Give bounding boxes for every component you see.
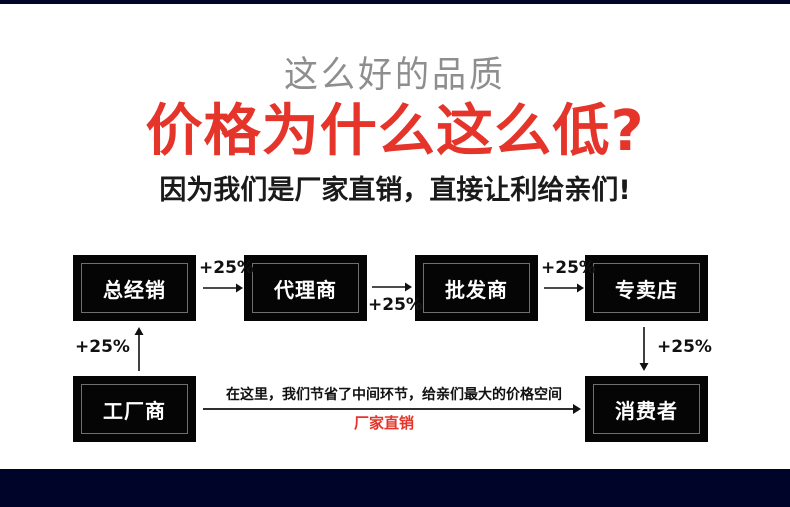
flow-box-factory: 工厂商 — [73, 376, 196, 442]
flow-box-agent: 代理商 — [244, 255, 367, 321]
direct-sale-description: 在这里，我们节省了中间环节，给亲们最大的价格空间 — [226, 384, 562, 404]
flow-box-label: 消费者 — [615, 395, 678, 424]
arrow-down-icon — [637, 327, 651, 371]
top-accent-band — [0, 0, 790, 4]
flow-box-inner: 消费者 — [593, 384, 700, 434]
markup-label-factory-distributor: +25% — [75, 337, 130, 357]
arrow-right-icon-2 — [372, 280, 412, 294]
flow-box-label: 专卖店 — [615, 274, 678, 303]
flow-box-label: 批发商 — [445, 274, 508, 303]
flow-box-inner: 批发商 — [423, 263, 530, 313]
markup-label-store-consumer: +25% — [657, 337, 712, 357]
flow-box-wholesaler: 批发商 — [415, 255, 538, 321]
flow-box-inner: 工厂商 — [81, 384, 188, 434]
flow-box-label: 代理商 — [274, 274, 337, 303]
flow-box-consumer: 消费者 — [585, 376, 708, 442]
headline-subtitle: 这么好的品质 — [0, 51, 790, 100]
flow-box-inner: 专卖店 — [593, 263, 700, 313]
headline-tagline: 因为我们是厂家直销，直接让利给亲们! — [0, 172, 790, 210]
markup-label-wholesaler-store: +25% — [541, 258, 596, 278]
markup-label-distributor-agent: +25% — [199, 258, 254, 278]
arrow-up-icon — [132, 327, 146, 371]
arrow-right-icon-1 — [203, 281, 243, 295]
flow-box-inner: 总经销 — [81, 263, 188, 313]
flow-box-store: 专卖店 — [585, 255, 708, 321]
direct-sale-badge: 厂家直销 — [354, 412, 414, 433]
flow-box-label: 总经销 — [103, 274, 166, 303]
flow-box-label: 工厂商 — [103, 395, 166, 424]
headline-main: 价格为什么这么低? — [0, 100, 790, 164]
flow-box-distributor: 总经销 — [73, 255, 196, 321]
flow-box-inner: 代理商 — [252, 263, 359, 313]
arrow-right-icon-3 — [544, 281, 584, 295]
bottom-accent-band — [0, 469, 790, 507]
markup-label-agent-wholesaler: +25% — [368, 295, 423, 315]
headline-block: 这么好的品质 价格为什么这么低? 因为我们是厂家直销，直接让利给亲们! — [0, 52, 790, 210]
poster-canvas: 这么好的品质 价格为什么这么低? 因为我们是厂家直销，直接让利给亲们! 总经销 … — [0, 0, 790, 507]
